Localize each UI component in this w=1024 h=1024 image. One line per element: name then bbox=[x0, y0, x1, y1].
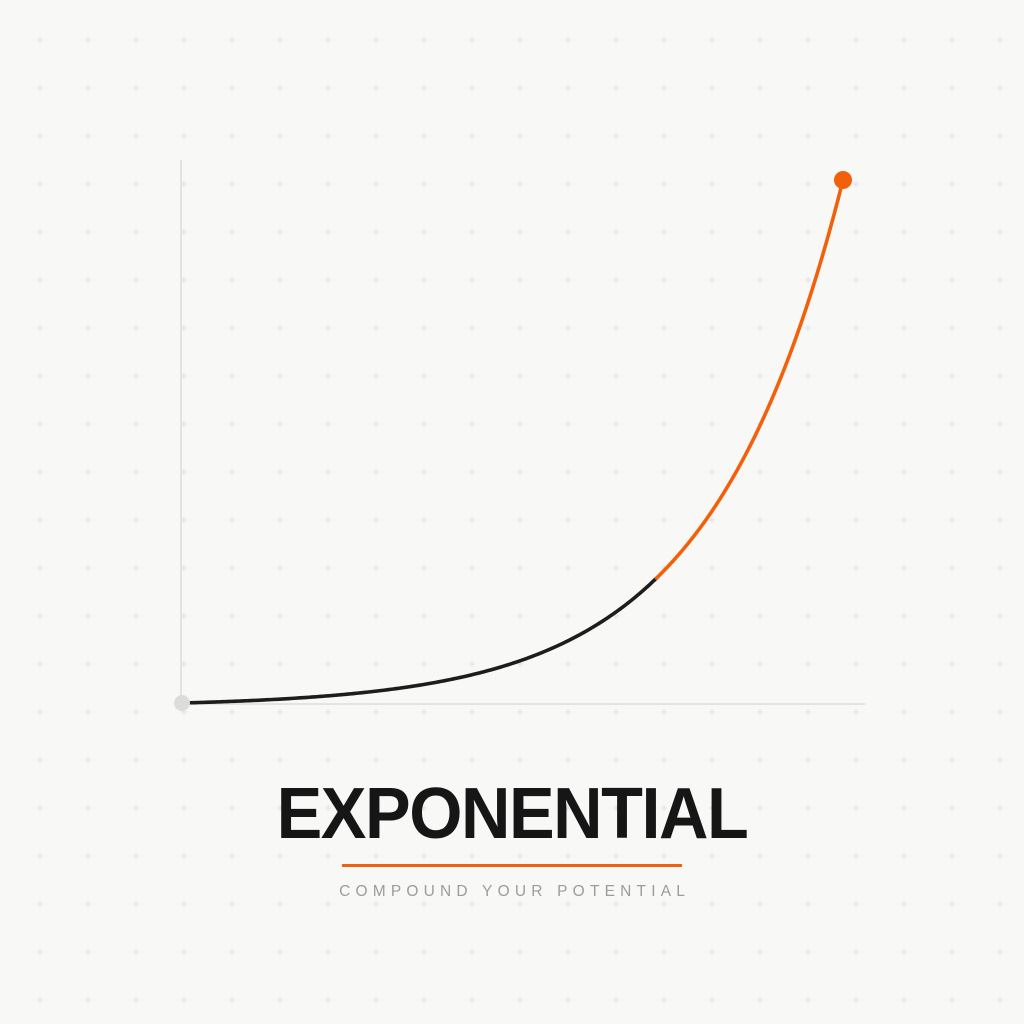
curve-segment-accelerated-growth bbox=[657, 180, 843, 578]
end-point-marker bbox=[834, 171, 852, 189]
title-block: EXPONENTIAL COMPOUND YOUR POTENTIAL bbox=[0, 778, 1024, 901]
page-title: EXPONENTIAL bbox=[26, 778, 999, 850]
poster-canvas: EXPONENTIAL COMPOUND YOUR POTENTIAL bbox=[0, 0, 1024, 1024]
page-subtitle: COMPOUND YOUR POTENTIAL bbox=[0, 883, 1024, 901]
curve-segment-early-growth bbox=[182, 578, 657, 703]
title-underline-rule bbox=[342, 864, 682, 867]
start-point-marker bbox=[174, 695, 190, 711]
